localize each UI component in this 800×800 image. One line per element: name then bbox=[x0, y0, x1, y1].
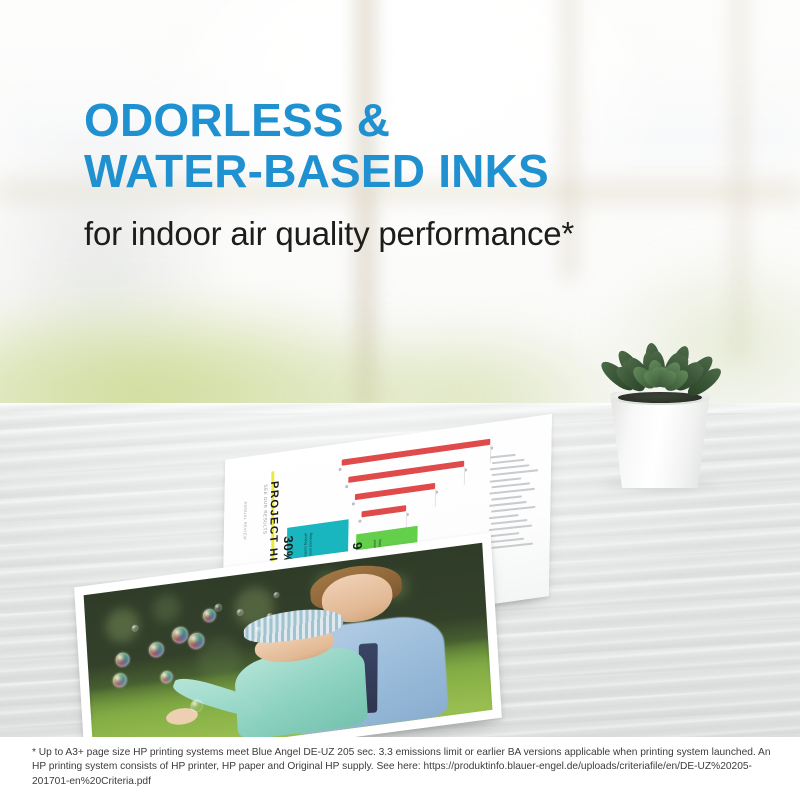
chart-gridline bbox=[490, 445, 491, 463]
report-text-line bbox=[491, 482, 530, 488]
soap-bubble bbox=[112, 672, 127, 688]
report-text-line bbox=[490, 543, 533, 549]
footnote-text: * Up to A3+ page size HP printing system… bbox=[32, 746, 774, 789]
report-text-line bbox=[491, 532, 520, 537]
marketing-poster: ODORLESS & WATER-BASED INKS for indoor a… bbox=[0, 0, 800, 800]
chart-gridline bbox=[464, 467, 465, 485]
headline: ODORLESS & WATER-BASED INKS bbox=[84, 95, 724, 197]
report-text-line bbox=[489, 488, 535, 494]
report-text-line bbox=[491, 495, 522, 500]
chart-point bbox=[358, 519, 361, 522]
bokeh-blob bbox=[152, 593, 181, 625]
report-text-line bbox=[489, 514, 519, 519]
soap-bubble bbox=[214, 603, 222, 612]
hero-scene: ODORLESS & WATER-BASED INKS for indoor a… bbox=[0, 0, 800, 737]
report-text-line bbox=[490, 477, 522, 482]
report-text-line bbox=[492, 469, 539, 475]
headline-line-2: WATER-BASED INKS bbox=[84, 146, 724, 197]
chart-bar bbox=[355, 483, 435, 500]
chart-bar bbox=[342, 439, 491, 466]
chart-bar bbox=[362, 505, 407, 517]
report-subtitle-2: ANNUAL REVIEW bbox=[243, 501, 249, 540]
report-text-line bbox=[490, 454, 516, 458]
report-text-line bbox=[489, 501, 527, 507]
footer-band: * Up to A3+ page size HP printing system… bbox=[0, 737, 800, 800]
photo-child bbox=[218, 600, 385, 737]
report-text-line bbox=[490, 464, 530, 470]
soap-bubble bbox=[172, 626, 189, 644]
soap-bubble bbox=[115, 652, 130, 668]
chart-gridline bbox=[435, 489, 436, 507]
report-text-line bbox=[488, 538, 524, 543]
potted-plant bbox=[588, 300, 738, 490]
subheadline: for indoor air quality performance* bbox=[84, 215, 784, 253]
plant-pot bbox=[610, 392, 710, 488]
report-text-line bbox=[492, 459, 525, 464]
chart-point bbox=[352, 502, 355, 505]
report-text-line bbox=[491, 506, 536, 512]
chart-point bbox=[345, 485, 348, 488]
soap-bubble bbox=[149, 641, 165, 658]
report-text-line bbox=[491, 519, 528, 524]
headline-line-1: ODORLESS & bbox=[84, 94, 390, 146]
chart-bar bbox=[348, 461, 464, 483]
report-text-line bbox=[489, 525, 533, 531]
chart-point bbox=[339, 468, 342, 471]
